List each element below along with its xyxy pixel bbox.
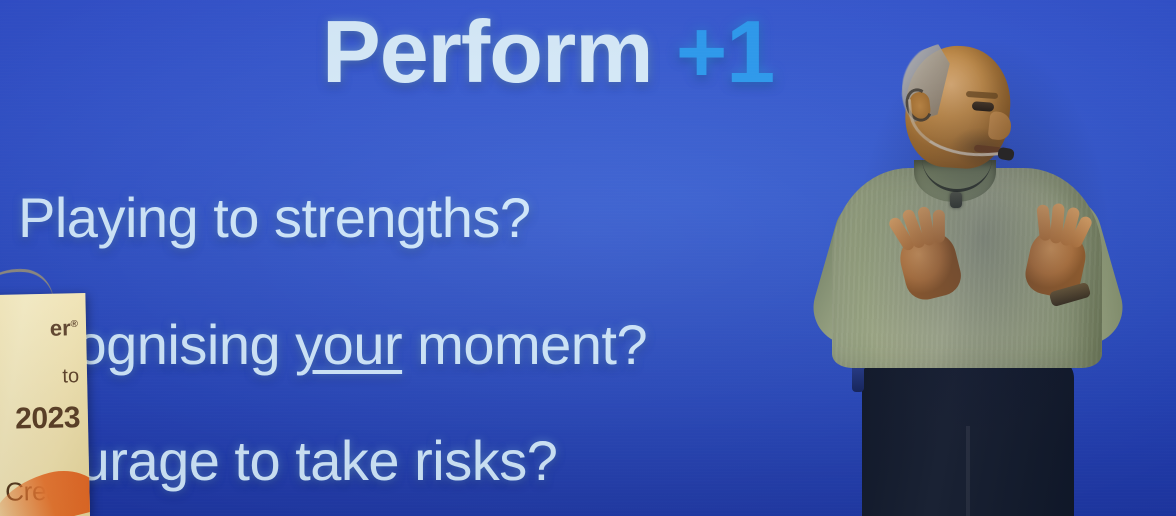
bullet-2-suffix: moment? xyxy=(402,313,647,376)
lectern-line-1: er® xyxy=(50,315,79,342)
slide-title: Perform +1 xyxy=(322,6,774,98)
speaker-person xyxy=(806,0,1176,516)
stage-photo: Perform +1 Playing to strengths? cognisi… xyxy=(0,0,1176,516)
bullet-1-prefix: Playing to strengths? xyxy=(18,186,530,249)
lectern-line-2: to xyxy=(62,365,79,388)
speaker-pendant xyxy=(950,192,962,208)
slide-bullet-2: cognising your moment? xyxy=(48,312,647,377)
bullet-3-prefix: ourage to take risks? xyxy=(48,429,557,492)
lectern-swoosh-graphic xyxy=(0,461,90,516)
lectern-card: er® to 2023 Create xyxy=(0,293,90,516)
slide-title-accent: +1 xyxy=(676,2,774,101)
slide-bullet-3: ourage to take risks? xyxy=(48,428,557,493)
finger xyxy=(933,210,945,243)
slide-title-main: Perform xyxy=(322,2,676,101)
registered-mark-icon: ® xyxy=(70,319,78,330)
lectern-sign: er® to 2023 Create xyxy=(0,293,90,516)
slide-bullet-1: Playing to strengths? xyxy=(18,185,530,250)
bullet-2-underline: your xyxy=(295,313,402,376)
lectern-line-year: 2023 xyxy=(15,401,80,436)
speaker-trousers xyxy=(862,352,1074,516)
lectern-line-create: Create xyxy=(5,475,82,508)
